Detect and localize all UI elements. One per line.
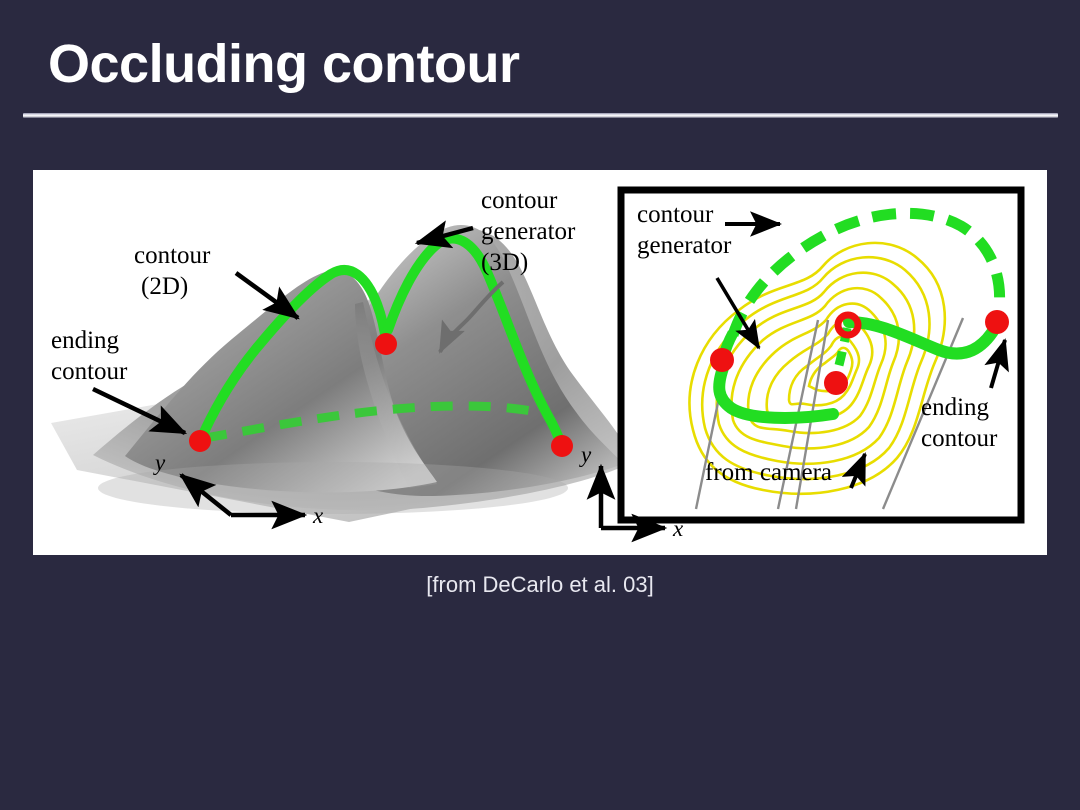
label-contour-generator-line1: contour: [637, 201, 714, 228]
label-from-camera: from camera: [705, 459, 832, 486]
left-panel-3d-surface: contour (2D) ending contour contour gene…: [51, 187, 633, 528]
axis-label-x-right: x: [672, 516, 684, 541]
label-contour-2d-line2: (2D): [141, 273, 188, 300]
title-divider: [23, 113, 1058, 118]
label-ending-contour-left-line2: contour: [51, 358, 128, 385]
label-contour-generator-3d-line2: generator: [481, 218, 576, 245]
figure-panel: contour (2D) ending contour contour gene…: [33, 170, 1047, 555]
axis-label-y-left: y: [153, 450, 166, 475]
endpoint-dot-left: [189, 430, 211, 452]
right-panel-topdown: contour generator ending contour from ca…: [579, 190, 1021, 541]
label-contour-generator-3d-line1: contour: [481, 187, 558, 214]
axis-label-x-left: x: [312, 503, 324, 528]
topdown-endpoint-lower: [824, 371, 848, 395]
surface-shadow: [98, 462, 568, 514]
topdown-endpoint-left: [710, 348, 734, 372]
label-ending-contour-right-line2: contour: [921, 425, 998, 452]
label-contour-generator-line2: generator: [637, 232, 732, 259]
endpoint-dot-middle: [375, 333, 397, 355]
endpoint-dot-right: [551, 435, 573, 457]
axis-label-y-right: y: [579, 442, 592, 467]
label-ending-contour-left-line1: ending: [51, 327, 120, 354]
topdown-endpoint-right: [985, 310, 1009, 334]
page-title: Occluding contour: [48, 33, 520, 95]
label-contour-2d-line1: contour: [134, 242, 211, 269]
label-ending-contour-right-line1: ending: [921, 394, 990, 421]
label-contour-generator-3d-line3: (3D): [481, 249, 528, 276]
slide: Occluding contour: [0, 0, 1080, 810]
figure-caption: [from DeCarlo et al. 03]: [0, 572, 1080, 598]
